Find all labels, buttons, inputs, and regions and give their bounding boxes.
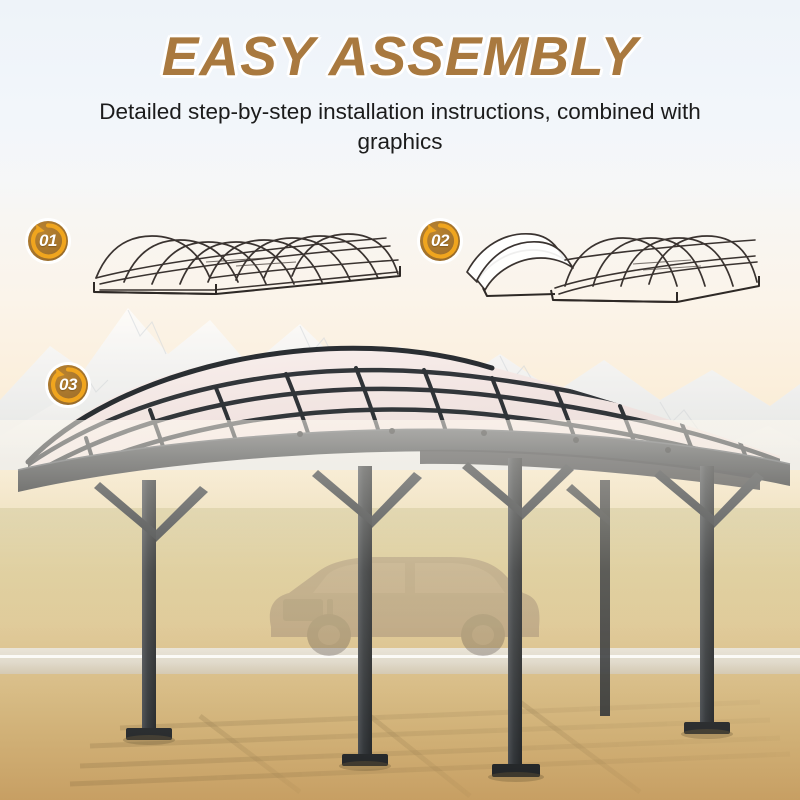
step-number: 02: [431, 231, 449, 251]
step-02-diagram: [447, 224, 762, 310]
post-center-left: [312, 466, 422, 771]
step-number: 01: [39, 231, 57, 251]
post-right: [654, 466, 764, 739]
step-number: 03: [59, 375, 77, 395]
carport-product-photo: [0, 330, 800, 800]
ground-shadow: [70, 702, 790, 796]
step-01-diagram: [86, 222, 401, 308]
post-left: [94, 480, 208, 745]
step-badge-01: 01: [25, 218, 71, 264]
step-badge-02: 02: [417, 218, 463, 264]
post-rear: [566, 480, 610, 716]
step-badge-03: 03: [45, 362, 91, 408]
product-feature-image: EASY ASSEMBLY Detailed step-by-step inst…: [0, 0, 800, 800]
page-subtitle: Detailed step-by-step installation instr…: [60, 97, 740, 157]
page-title: EASY ASSEMBLY: [0, 24, 800, 88]
